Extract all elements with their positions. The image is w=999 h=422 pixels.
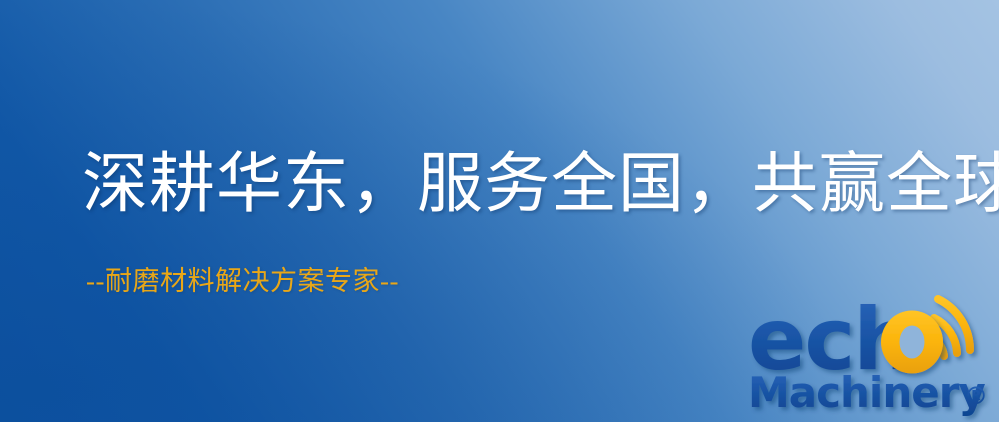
promotional-banner: 深耕华东，服务全国，共赢全球 --耐磨材料解决方案专家--	[0, 0, 999, 422]
svg-text:Machinery: Machinery	[748, 368, 985, 417]
banner-subtitle: --耐磨材料解决方案专家--	[86, 268, 399, 295]
logo-text-machinery: Machinery ®	[748, 368, 988, 417]
svg-text:®: ®	[964, 382, 988, 410]
logo-letter-o-accent	[881, 311, 943, 374]
echo-machinery-logo[interactable]: ech Machinery ®	[748, 292, 999, 422]
banner-headline: 深耕华东，服务全国，共赢全球	[82, 152, 999, 218]
